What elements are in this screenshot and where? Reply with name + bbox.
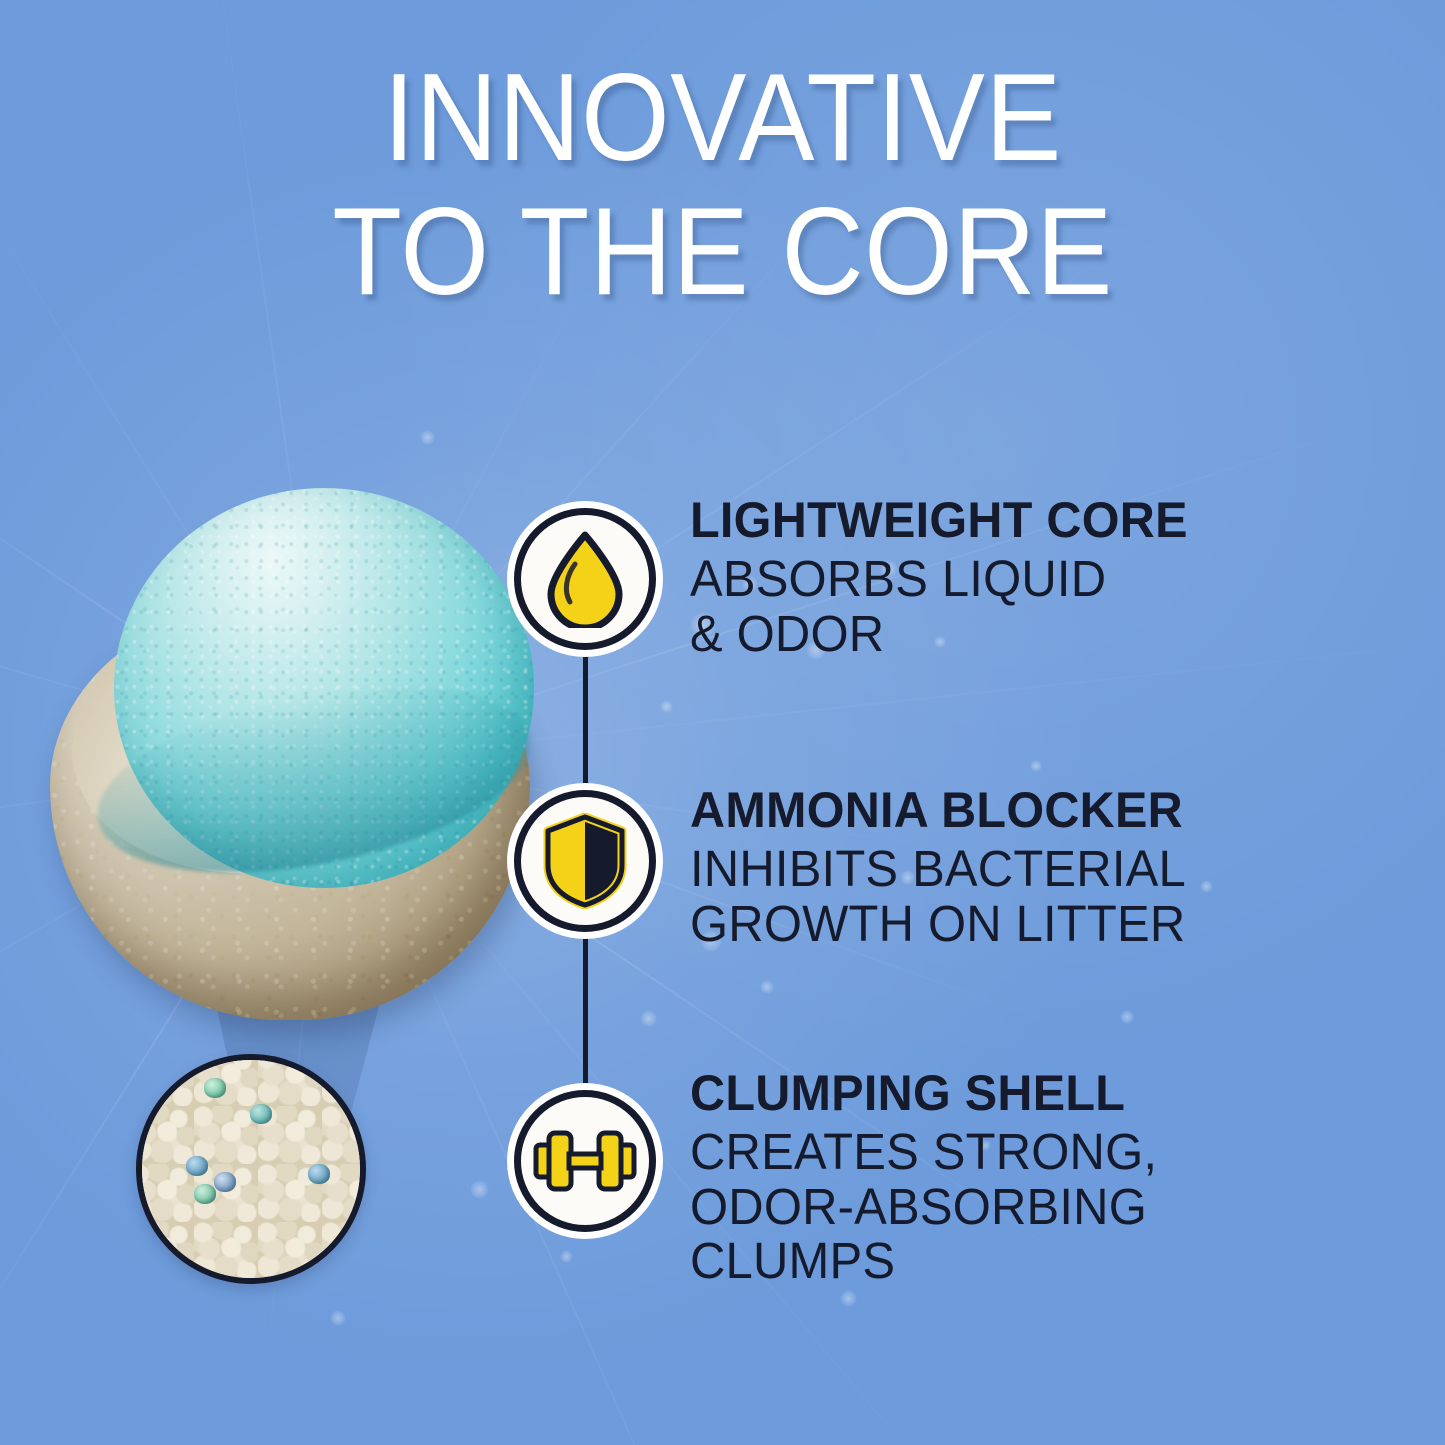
colored-granule bbox=[308, 1164, 330, 1184]
bokeh-dot bbox=[1030, 760, 1042, 772]
colored-granule bbox=[214, 1172, 236, 1192]
colored-granule bbox=[250, 1104, 272, 1124]
product-illustration bbox=[28, 470, 588, 1030]
page-title: INNOVATIVE TO THE CORE bbox=[58, 52, 1387, 320]
colored-granule bbox=[204, 1078, 226, 1098]
feature-block-3: CLUMPING SHELL CREATES STRONG, ODOR-ABSO… bbox=[690, 1068, 1390, 1289]
bokeh-dot bbox=[560, 1250, 573, 1263]
product-infographic: INNOVATIVE TO THE CORE LIGHTWEIGHT CORE bbox=[0, 0, 1445, 1445]
feature-title: CLUMPING SHELL bbox=[690, 1068, 1369, 1118]
feature-block-2: AMMONIA BLOCKER INHIBITS BACTERIAL GROWT… bbox=[690, 785, 1390, 951]
dumbbell-icon bbox=[533, 1128, 637, 1194]
granule-texture bbox=[136, 1054, 366, 1284]
bokeh-dot bbox=[1120, 1010, 1134, 1024]
connector-line-2 bbox=[583, 930, 588, 1098]
shield-icon bbox=[542, 813, 628, 909]
shield-icon-badge[interactable] bbox=[514, 790, 656, 932]
droplet-icon bbox=[539, 530, 631, 628]
bokeh-dot bbox=[470, 1180, 489, 1199]
colored-granule bbox=[194, 1184, 216, 1204]
magnified-litter-granules bbox=[136, 1054, 366, 1284]
bokeh-dot bbox=[840, 1290, 857, 1307]
bokeh-dot bbox=[420, 430, 435, 445]
bokeh-dot bbox=[640, 1010, 657, 1027]
feature-description: ABSORBS LIQUID & ODOR bbox=[690, 552, 1362, 661]
colored-granule bbox=[186, 1156, 208, 1176]
bokeh-dot bbox=[660, 700, 673, 713]
feature-title: LIGHTWEIGHT CORE bbox=[690, 495, 1369, 545]
feature-title: AMMONIA BLOCKER bbox=[690, 785, 1369, 835]
bokeh-dot bbox=[330, 1310, 346, 1326]
bokeh-dot bbox=[760, 980, 774, 994]
dumbbell-icon-badge[interactable] bbox=[514, 1090, 656, 1232]
feature-block-1: LIGHTWEIGHT CORE ABSORBS LIQUID & ODOR bbox=[690, 495, 1390, 661]
feature-description: INHIBITS BACTERIAL GROWTH ON LITTER bbox=[690, 842, 1362, 951]
feature-description: CREATES STRONG, ODOR-ABSORBING CLUMPS bbox=[690, 1125, 1362, 1289]
droplet-icon-badge[interactable] bbox=[514, 508, 656, 650]
